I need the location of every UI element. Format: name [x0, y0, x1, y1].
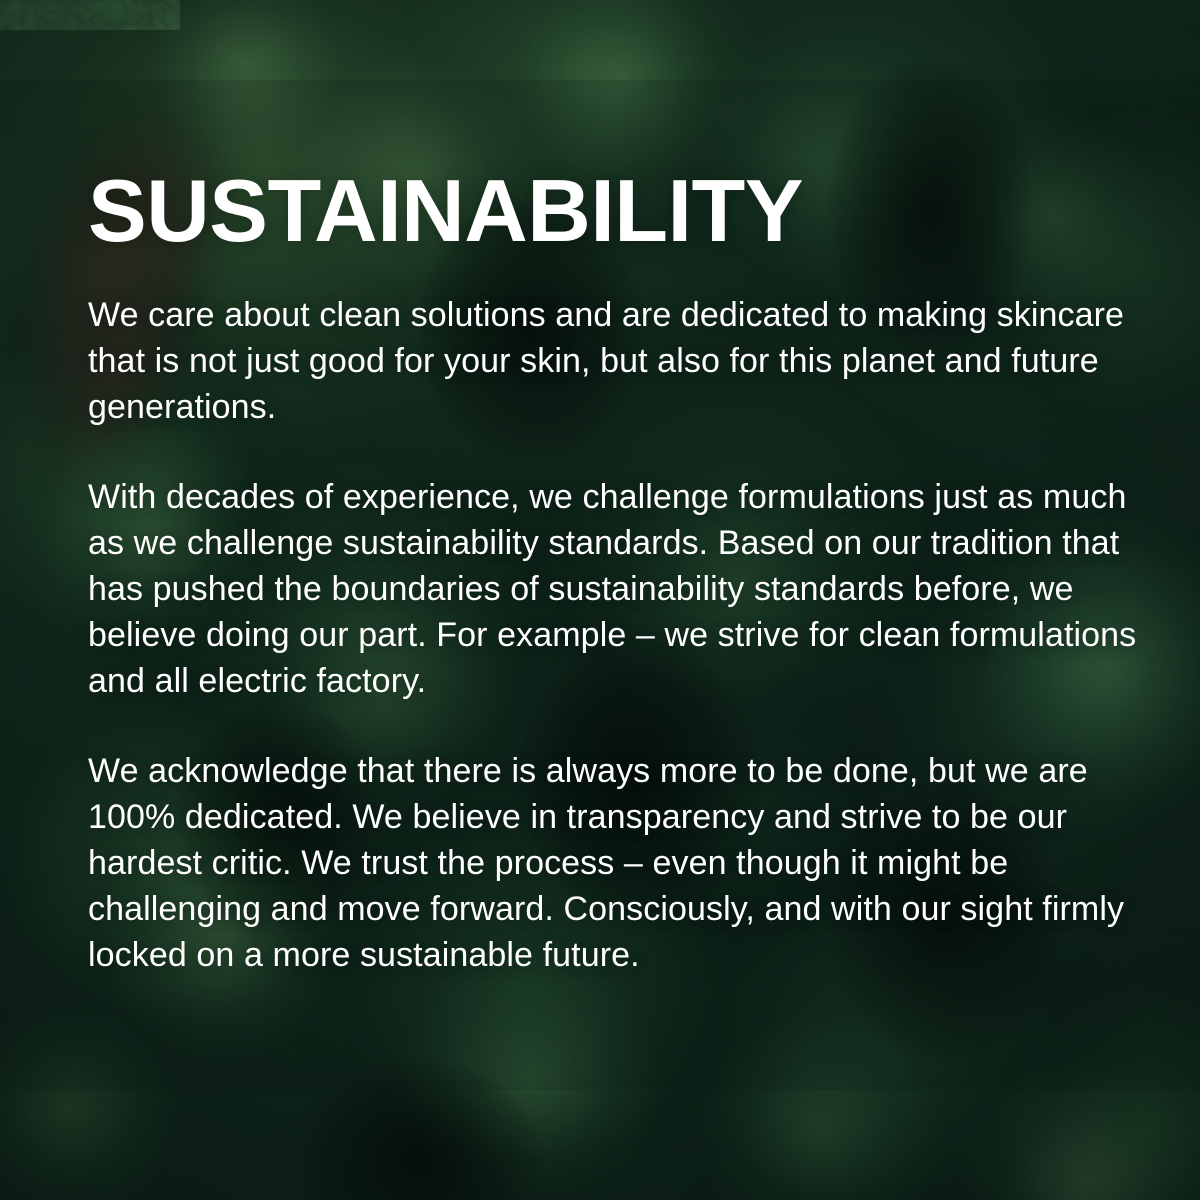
sustainability-page: SUSTAINABILITY We care about clean solut…	[0, 0, 1200, 1200]
body-copy: We care about clean solutions and are de…	[88, 292, 1148, 978]
content-overlay: SUSTAINABILITY We care about clean solut…	[0, 0, 1200, 1200]
paragraph-intro: We care about clean solutions and are de…	[88, 292, 1148, 430]
paragraph-transparency: We acknowledge that there is always more…	[88, 748, 1148, 978]
paragraph-experience: With decades of experience, we challenge…	[88, 474, 1148, 704]
page-title: SUSTAINABILITY	[88, 167, 803, 255]
